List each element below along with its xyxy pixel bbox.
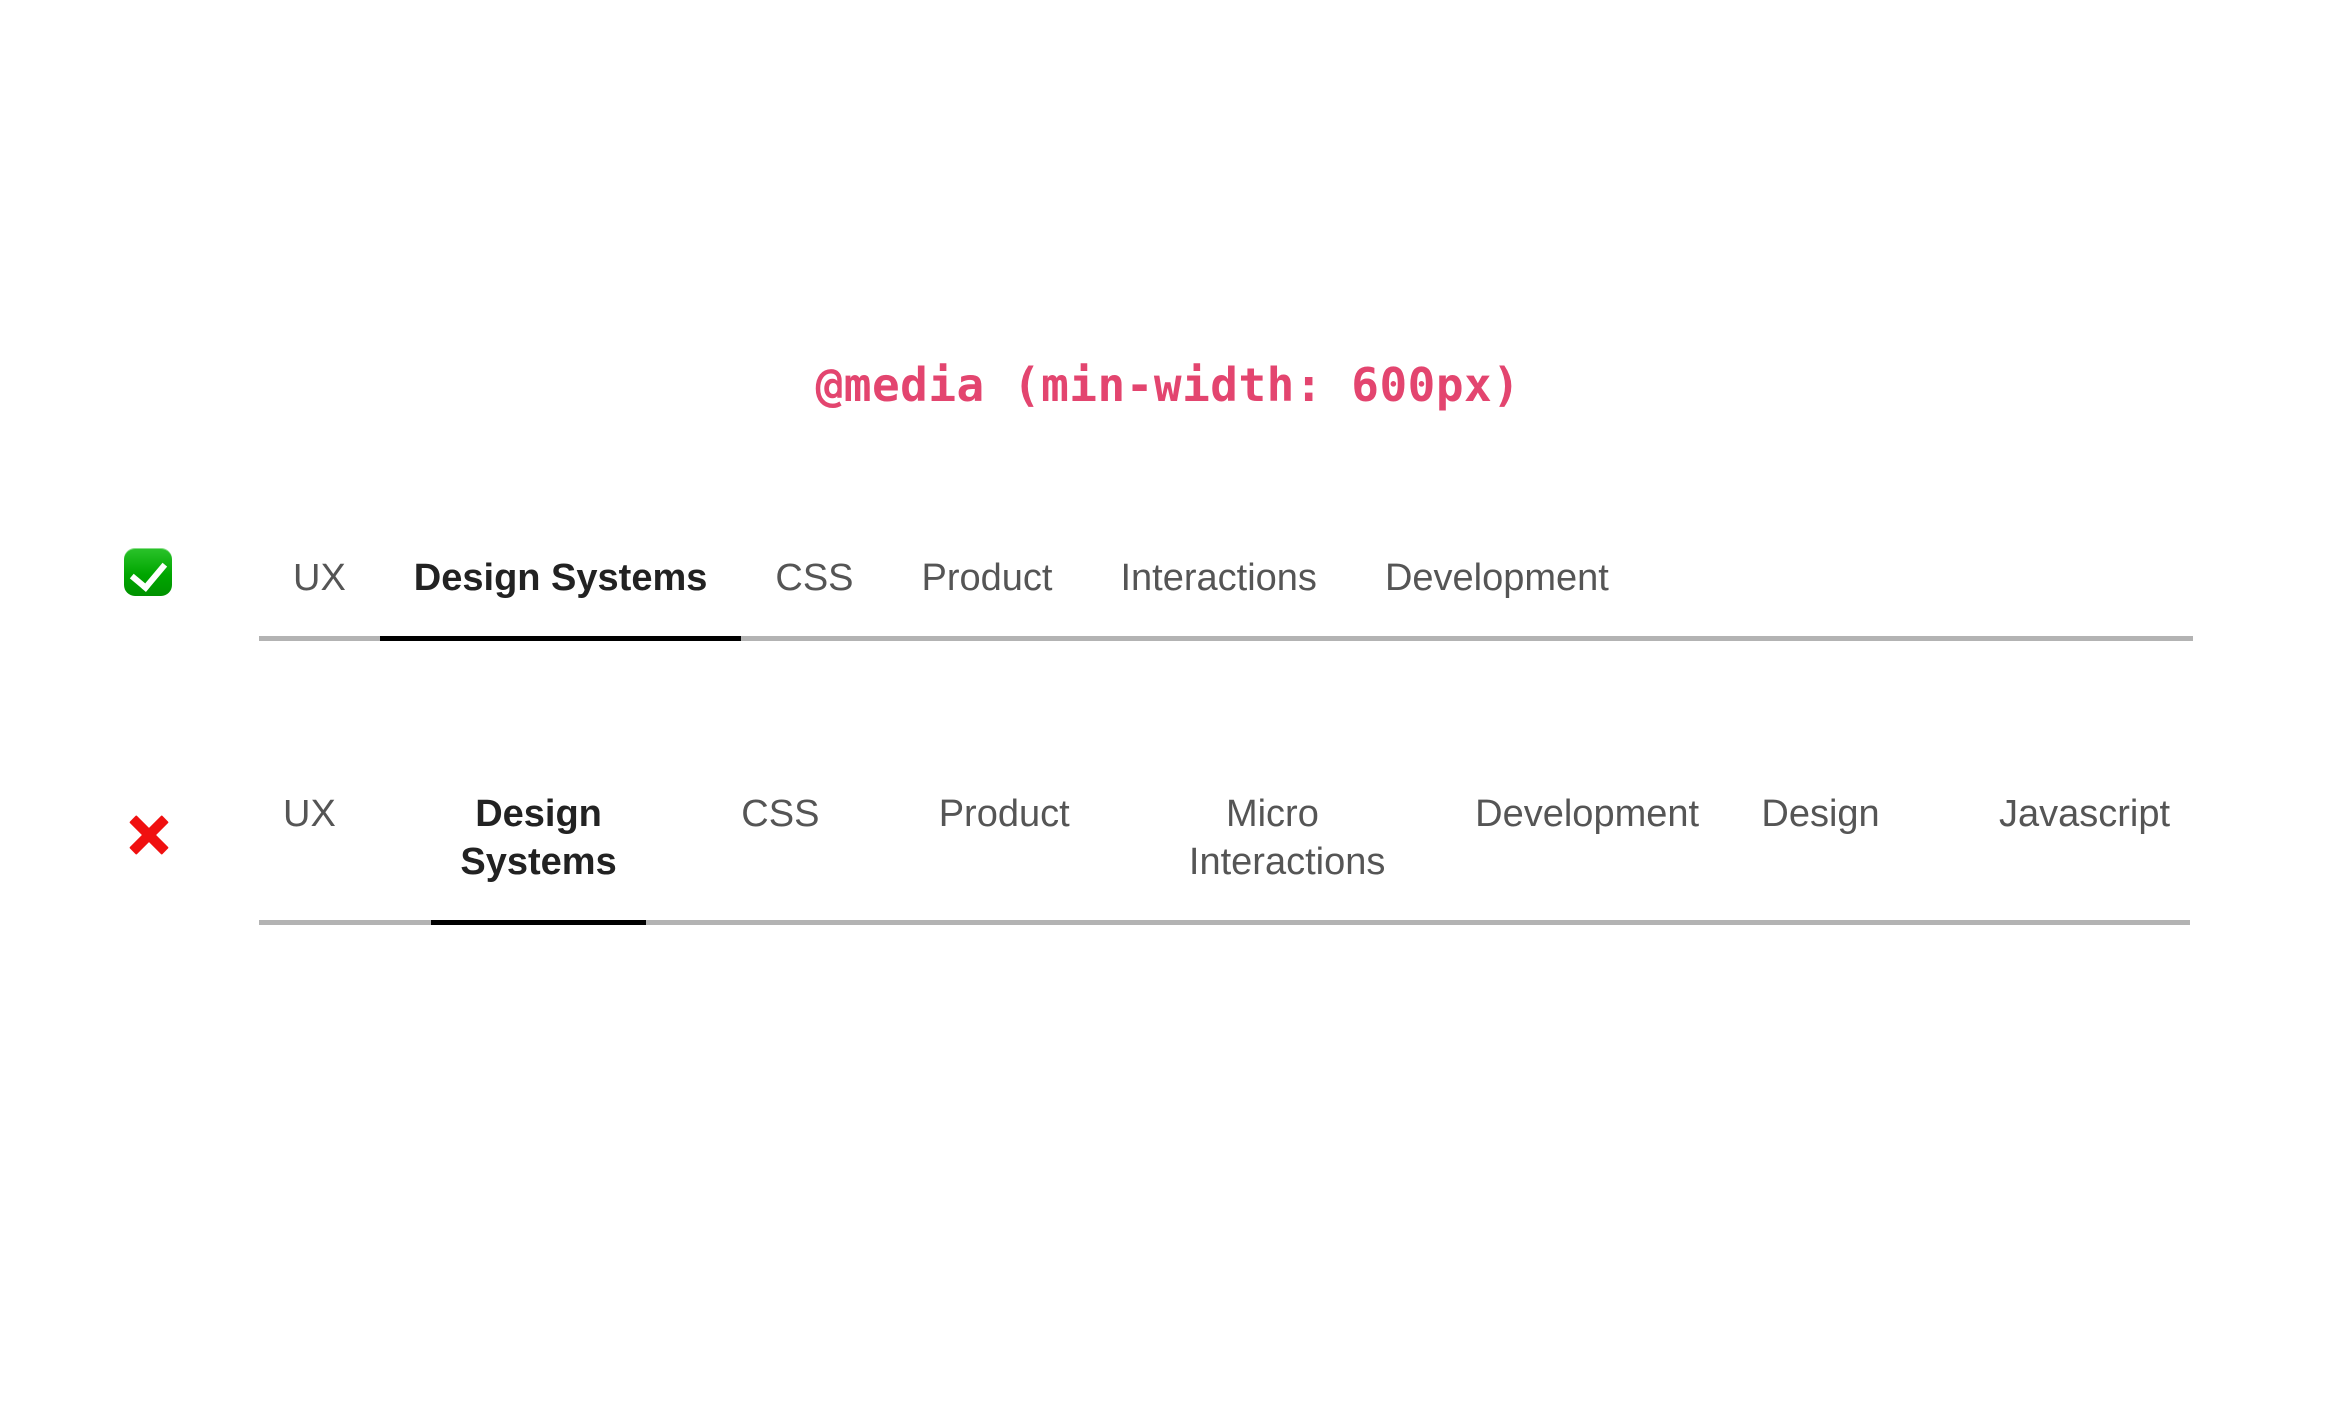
tab-bar-wide: UX Design Systems CSS Product Interactio… xyxy=(259,524,2193,641)
tab-label: CSS xyxy=(775,557,853,599)
tab-underline xyxy=(259,636,380,641)
tab-interactions[interactable]: Interactions xyxy=(1086,524,1350,636)
cross-mark-icon xyxy=(124,810,174,860)
tab-product[interactable]: Product xyxy=(888,524,1087,636)
tab-label: UX xyxy=(293,557,346,599)
tab-label: Design xyxy=(1761,790,1879,838)
tab-label: Interactions xyxy=(1120,557,1316,599)
page-root: @media (min-width: 600px) UX Design Syst… xyxy=(0,0,2336,1406)
tab-active-underline xyxy=(431,920,646,925)
tab-underline xyxy=(1451,872,1666,877)
tab-underline xyxy=(259,872,360,877)
tab-underline xyxy=(1165,920,1380,925)
tab-design-systems[interactable]: Design Systems xyxy=(380,524,742,636)
tab-label: CSS xyxy=(741,790,819,838)
status-marker-good xyxy=(0,524,259,620)
tab-underline xyxy=(717,872,843,877)
tab-label: Development xyxy=(1475,790,1642,838)
tab-design[interactable]: Design xyxy=(1737,760,1903,872)
tab-underline xyxy=(1351,636,1643,641)
tab-label: Javascript xyxy=(1999,790,2166,838)
tab-javascript[interactable]: Javascript xyxy=(1975,760,2190,872)
tab-ux[interactable]: UX xyxy=(259,760,360,872)
white-heavy-check-mark-icon xyxy=(124,548,172,596)
tab-development[interactable]: Development xyxy=(1451,760,1666,872)
tab-micro-interactions[interactable]: Micro Interactions xyxy=(1165,760,1380,920)
tab-bar-narrow: UX Design Systems CSS Product Micro Inte… xyxy=(259,760,2190,925)
status-marker-bad xyxy=(0,760,259,910)
tab-underline xyxy=(915,872,1094,877)
tab-css[interactable]: CSS xyxy=(741,524,887,636)
tab-label: Design Systems xyxy=(455,790,622,886)
page-title: @media (min-width: 600px) xyxy=(0,358,2336,412)
example-row-good: UX Design Systems CSS Product Interactio… xyxy=(0,524,2336,641)
tab-label: Product xyxy=(922,557,1053,599)
tab-underline xyxy=(1975,872,2190,877)
tab-ux[interactable]: UX xyxy=(259,524,380,636)
tab-underline xyxy=(741,636,887,641)
example-row-bad: UX Design Systems CSS Product Micro Inte… xyxy=(0,760,2336,925)
tab-development[interactable]: Development xyxy=(1351,524,1643,636)
tab-active-underline xyxy=(380,636,742,641)
tab-underline xyxy=(1737,872,1903,877)
tab-css[interactable]: CSS xyxy=(717,760,843,872)
tab-label: UX xyxy=(283,790,336,838)
tab-design-systems[interactable]: Design Systems xyxy=(431,760,646,920)
tab-underline xyxy=(1086,636,1350,641)
tab-label: Design Systems xyxy=(414,557,708,599)
tab-underline xyxy=(888,636,1087,641)
tab-label: Development xyxy=(1385,557,1609,599)
tab-label: Product xyxy=(939,790,1070,838)
tab-product[interactable]: Product xyxy=(915,760,1094,872)
tab-label: Micro Interactions xyxy=(1189,790,1356,886)
